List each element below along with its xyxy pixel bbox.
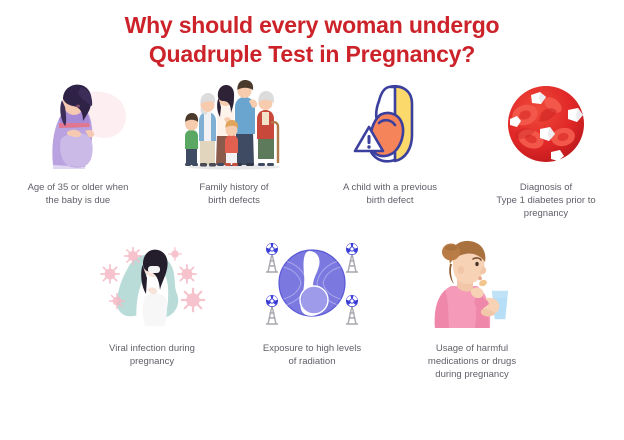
risk-factor-card: A child with a previous birth defect — [312, 79, 468, 207]
risk-factor-caption: Diagnosis of Type 1 diabetes prior to pr… — [496, 181, 595, 220]
woman-taking-pill-water-glass-icon — [417, 238, 527, 330]
risk-factor-card: Diagnosis of Type 1 diabetes prior to pr… — [468, 79, 624, 220]
boy-figure — [185, 113, 198, 166]
radiation-tower — [346, 306, 358, 324]
risk-factor-card: Exposure to high levels of radiation — [232, 238, 392, 368]
risk-factor-caption: Age of 35 or older when the baby is due — [28, 181, 129, 207]
risk-factor-caption: Exposure to high levels of radiation — [263, 342, 361, 368]
radiation-tower — [266, 306, 278, 324]
risk-factor-card: Viral infection during pregnancy — [72, 238, 232, 368]
risk-factor-caption: Family history of birth defects — [199, 181, 268, 207]
risk-factor-caption: Usage of harmful medications or drugs du… — [428, 342, 516, 381]
toddler-figure — [225, 120, 238, 166]
family-group-icon — [179, 79, 289, 171]
risk-factor-card: Age of 35 or older when the baby is due — [0, 79, 156, 207]
risk-factor-card: Family history of birth defects — [156, 79, 312, 207]
grandpa-figure — [199, 93, 216, 167]
page-title: Why should every woman undergo Quadruple… — [0, 0, 624, 69]
father-figure — [234, 80, 257, 166]
infographic-page: Why should every woman undergo Quadruple… — [0, 0, 624, 440]
risk-factor-caption: A child with a previous birth defect — [343, 181, 437, 207]
pregnant-woman-purple-dress-icon — [23, 79, 133, 171]
radiation-tower — [346, 254, 358, 272]
pregnant-woman-face-mask-virus-icon — [97, 238, 207, 330]
grandma-figure — [257, 91, 278, 166]
risk-factor-caption: Viral infection during pregnancy — [109, 342, 195, 368]
risk-factor-row-2: Viral infection during pregnancy — [0, 238, 624, 381]
page-title-line-2: Quadruple Test in Pregnancy? — [0, 40, 624, 69]
radiation-towers-pregnancy-icon — [257, 238, 367, 330]
page-title-line-1: Why should every woman undergo — [0, 11, 624, 40]
blood-cells-sugar-cubes-icon — [491, 79, 601, 171]
pregnant-woman-warning-triangle-icon — [335, 79, 445, 171]
risk-factor-row-1: Age of 35 or older when the baby is due — [0, 79, 624, 220]
radiation-tower — [266, 254, 278, 272]
risk-factor-card: Usage of harmful medications or drugs du… — [392, 238, 552, 381]
